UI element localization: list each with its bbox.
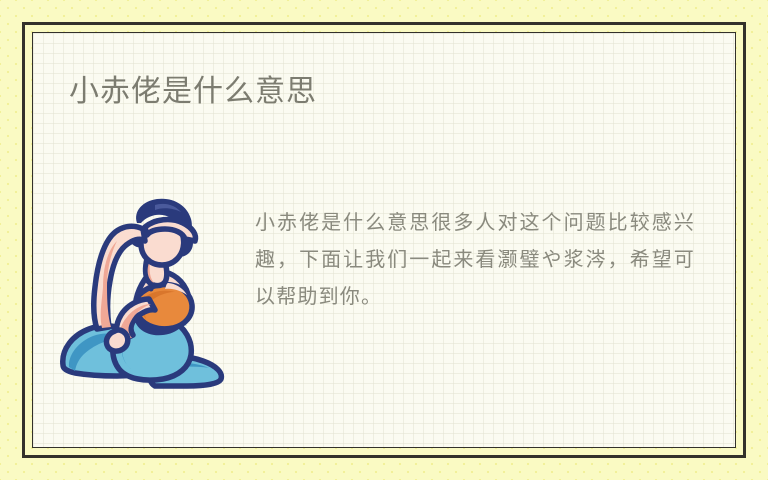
illustration-cell [33, 183, 245, 395]
article-body-row: 小赤佬是什么意思很多人对这个问题比较感兴趣，下面让我们一起来看灏璧や浆涔，希望可… [33, 183, 735, 395]
yoga-pose-illustration [55, 183, 231, 395]
page-canvas: 小赤佬是什么意思 [0, 0, 768, 480]
article-text-cell: 小赤佬是什么意思很多人对这个问题比较感兴趣，下面让我们一起来看灏璧や浆涔，希望可… [245, 183, 735, 316]
article-body-text: 小赤佬是什么意思很多人对这个问题比较感兴趣，下面让我们一起来看灏璧や浆涔，希望可… [255, 205, 695, 316]
decorative-frame-outer: 小赤佬是什么意思 [22, 22, 746, 458]
page-title: 小赤佬是什么意思 [69, 74, 317, 110]
content-panel: 小赤佬是什么意思 [32, 32, 736, 448]
